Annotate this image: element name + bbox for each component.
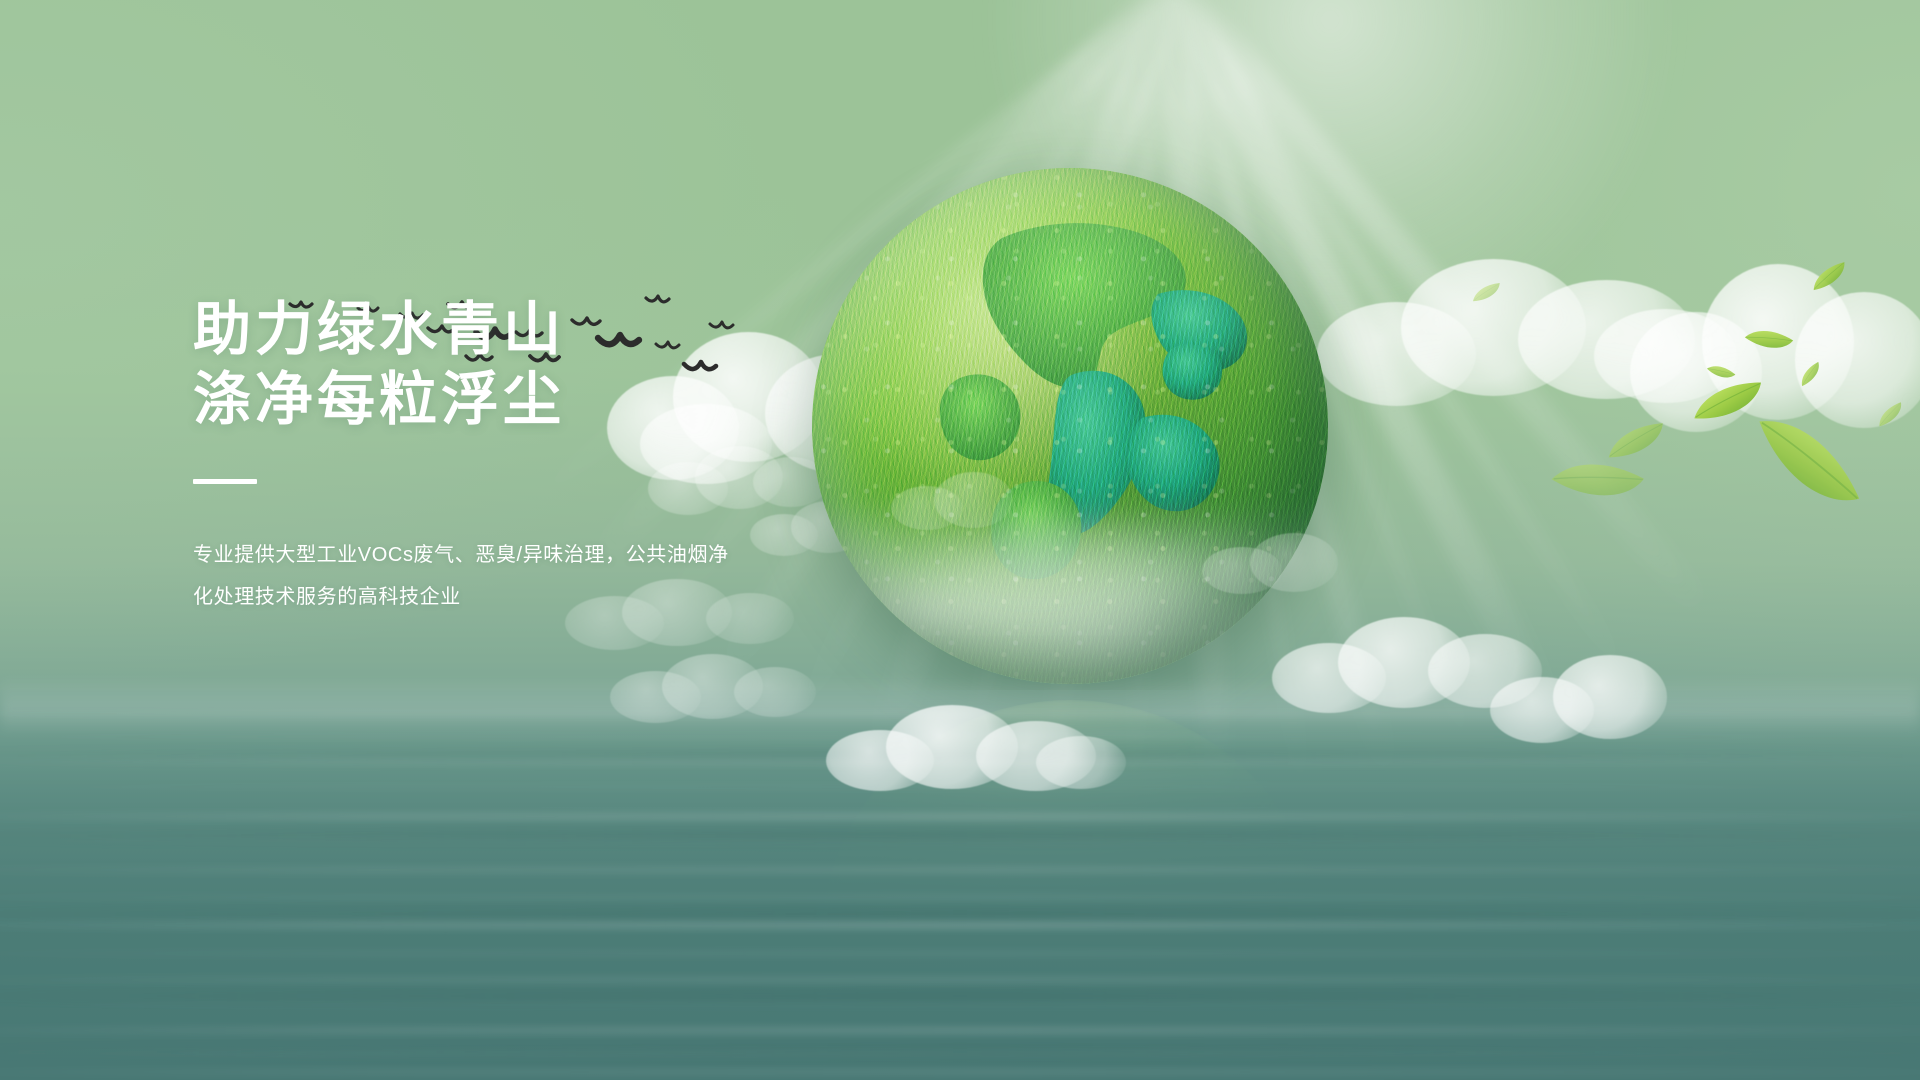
cloud-icon	[1300, 230, 1720, 410]
eco-hero-banner: 助力绿水青山 涤净每粒浮尘 专业提供大型工业VOCs废气、恶臭/异味治理，公共油…	[0, 0, 1920, 1080]
water-streak	[0, 978, 1920, 982]
water-streak	[0, 736, 1920, 738]
leaf-icon	[1742, 323, 1796, 358]
hero-description-line2: 化处理技术服务的高科技企业	[193, 576, 733, 618]
leaf-icon	[1806, 259, 1853, 296]
water-shadow-band	[0, 1046, 1920, 1058]
water-streak	[0, 814, 1920, 819]
leaf-icon	[1547, 451, 1650, 513]
water-shadow-band	[0, 750, 1920, 762]
water-streak	[0, 712, 1920, 715]
leaf-icon	[1687, 377, 1771, 428]
water-streak	[0, 868, 1920, 872]
water-shadow-band	[0, 908, 1920, 920]
leaf-icon	[1469, 281, 1506, 306]
leaf-icon	[1601, 418, 1672, 465]
leaf-icon	[1705, 360, 1738, 385]
water-streak	[0, 1028, 1920, 1033]
leaf-icon	[1745, 395, 1868, 531]
leaf-icon	[1873, 400, 1909, 431]
leaf-icon	[1796, 360, 1827, 390]
cloud-icon	[1610, 240, 1920, 440]
water-streak	[0, 952, 1920, 955]
hero-description-line1: 专业提供大型工业VOCs废气、恶臭/异味治理，公共油烟净	[193, 534, 733, 576]
hero-description: 专业提供大型工业VOCs废气、恶臭/异味治理，公共油烟净 化处理技术服务的高科技…	[193, 534, 733, 618]
water-streak	[0, 1070, 1920, 1074]
title-divider	[193, 479, 257, 484]
water-streak	[0, 1004, 1920, 1006]
hero-copy: 助力绿水青山 涤净每粒浮尘 专业提供大型工业VOCs废气、恶臭/异味治理，公共油…	[193, 297, 953, 618]
page-title-line2: 涤净每粒浮尘	[193, 367, 953, 433]
water-shadow-band	[0, 830, 1920, 842]
water-streak	[0, 896, 1920, 899]
water-streak	[0, 922, 1920, 928]
water-shadow-band	[0, 990, 1920, 1002]
water-streak	[0, 786, 1920, 788]
water-surface-icon	[0, 690, 1920, 1080]
page-title-line1: 助力绿水青山	[193, 297, 953, 363]
